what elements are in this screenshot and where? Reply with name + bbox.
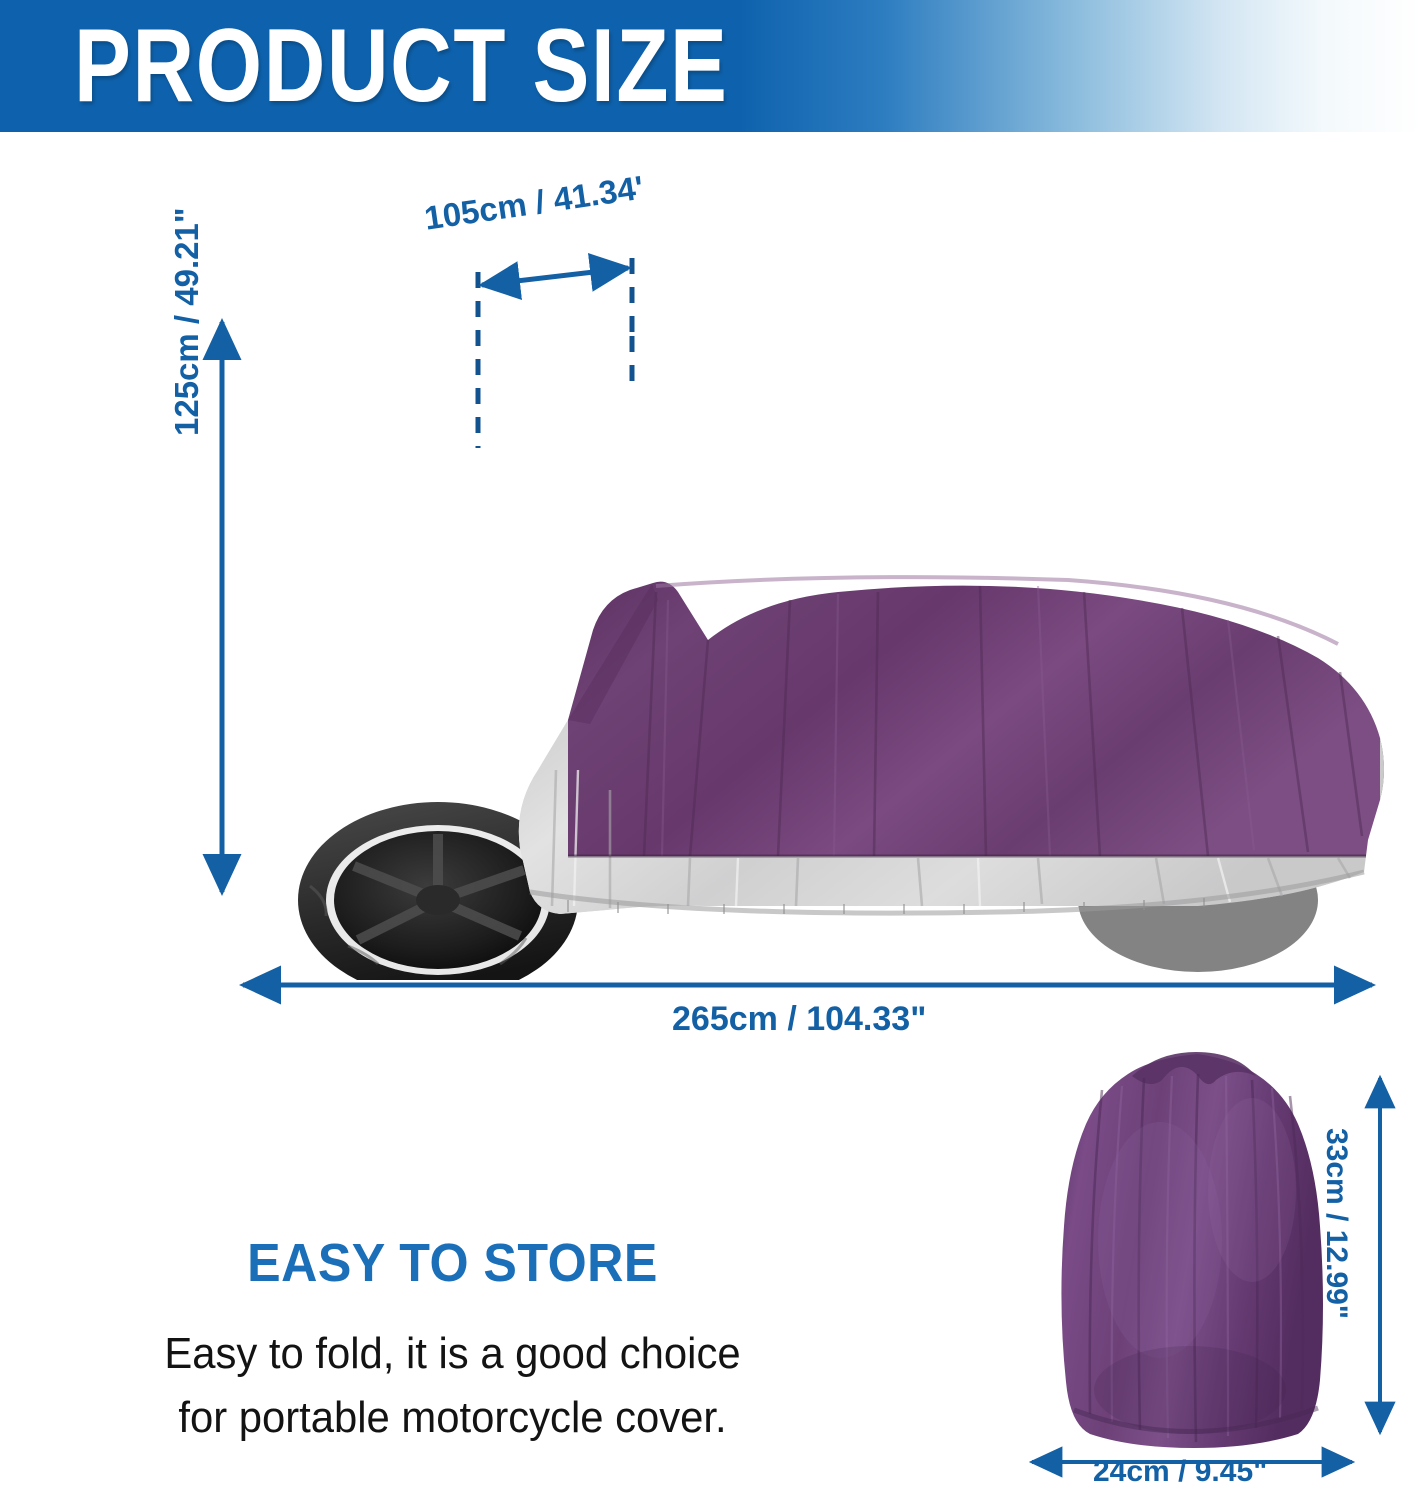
label-bag-height: 33cm / 12.99" bbox=[1319, 1128, 1353, 1319]
motorcycle-cover-illustration bbox=[238, 300, 1398, 980]
arrow-cover-top-width bbox=[482, 268, 628, 285]
easy-to-store-description: Easy to fold, it is a good choice for po… bbox=[23, 1322, 883, 1450]
label-bag-width: 24cm / 9.45" bbox=[1093, 1455, 1267, 1489]
label-cover-length: 265cm / 104.33" bbox=[672, 1000, 926, 1039]
cover-top-panel bbox=[568, 582, 1384, 856]
easy-to-store-heading: EASY TO STORE bbox=[32, 1232, 874, 1294]
label-cover-height: 125cm / 49.21" bbox=[168, 208, 206, 437]
easy-to-store-line-2: for portable motorcycle cover. bbox=[23, 1386, 883, 1450]
page-title: PRODUCT SIZE bbox=[74, 7, 729, 125]
label-cover-top-width: 105cm / 41.34' bbox=[422, 169, 646, 238]
easy-to-store-line-1: Easy to fold, it is a good choice bbox=[23, 1322, 883, 1386]
storage-bag-illustration bbox=[1040, 1050, 1352, 1450]
infographic-canvas: PRODUCT SIZE bbox=[0, 0, 1422, 1500]
